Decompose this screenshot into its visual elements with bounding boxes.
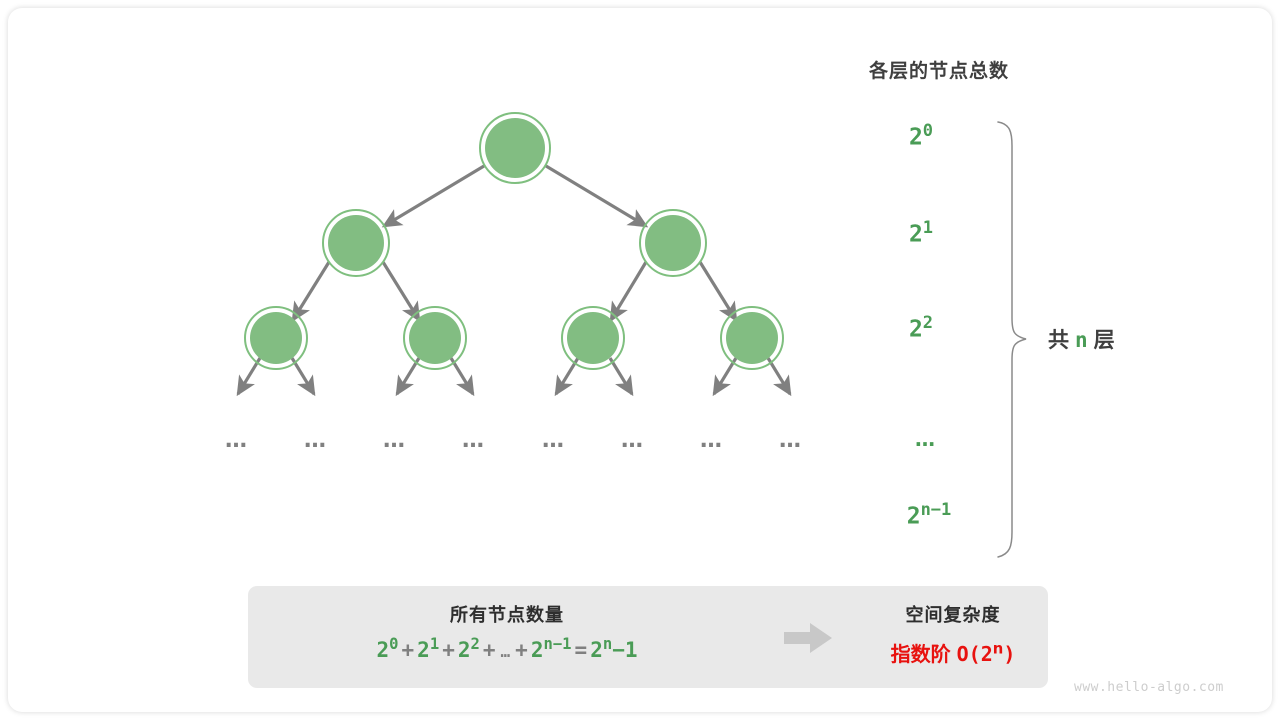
result-base: 2 bbox=[590, 638, 603, 662]
levels-variable: n bbox=[1070, 328, 1094, 352]
level-count-exp: 2 bbox=[923, 313, 933, 333]
leaf-ellipsis: … bbox=[779, 430, 803, 452]
total-nodes-formula: 20+21+22+…+2n−1=2n−1 bbox=[248, 638, 766, 662]
level-count-label-4: 2n−1 bbox=[907, 506, 952, 529]
leaf-ellipsis: … bbox=[304, 430, 328, 452]
tree-node bbox=[245, 307, 307, 369]
tree-nodes bbox=[245, 113, 783, 369]
level-count-exp: 1 bbox=[923, 218, 933, 238]
tree-node bbox=[640, 210, 706, 276]
equals-operator: = bbox=[572, 638, 591, 662]
total-nodes-heading: 所有节点数量 bbox=[248, 601, 766, 627]
leaf-ellipsis: … bbox=[621, 430, 645, 452]
diagram-canvas: 各层的节点总数 bbox=[8, 8, 1272, 712]
binary-tree-graphic bbox=[188, 98, 828, 418]
formula-ellipsis: … bbox=[499, 642, 513, 661]
complexity-order-label: 指数阶 bbox=[891, 642, 951, 666]
big-o-exponent: n bbox=[993, 640, 1004, 657]
level-count-exp: n−1 bbox=[921, 500, 952, 520]
result-exp: n bbox=[603, 635, 612, 653]
tree-node bbox=[721, 307, 783, 369]
watermark: www.hello-algo.com bbox=[1074, 680, 1224, 695]
levels-prefix: 共 bbox=[1048, 328, 1070, 352]
result-tail: −1 bbox=[612, 638, 637, 662]
level-count-base: 2 bbox=[907, 504, 921, 530]
plus-operator: + bbox=[399, 638, 418, 662]
leaf-ellipsis: … bbox=[383, 430, 407, 452]
level-count-label-1: 21 bbox=[909, 224, 933, 247]
tree-node bbox=[404, 307, 466, 369]
term-exp: 1 bbox=[430, 635, 439, 653]
level-count-base: 2 bbox=[909, 125, 923, 151]
level-count-exp: 0 bbox=[923, 121, 933, 141]
level-count-label-0: 20 bbox=[909, 127, 933, 150]
right-arrow-icon bbox=[784, 622, 834, 654]
level-count-label-2: 22 bbox=[909, 319, 933, 342]
big-o-close: ) bbox=[1003, 642, 1015, 666]
term-base: 2 bbox=[458, 638, 471, 662]
space-complexity-value: 指数阶O(2n) bbox=[858, 638, 1048, 667]
term-exp: n−1 bbox=[543, 635, 571, 653]
term-exp: 2 bbox=[471, 635, 480, 653]
tree-node bbox=[323, 210, 389, 276]
level-span-brace bbox=[996, 120, 1030, 560]
tree-node-root bbox=[480, 113, 550, 183]
term-exp: 0 bbox=[389, 635, 398, 653]
summary-left-panel: 所有节点数量 20+21+22+…+2n−1=2n−1 bbox=[248, 586, 766, 688]
plus-operator: + bbox=[480, 638, 499, 662]
column-title: 各层的节点总数 bbox=[844, 56, 1034, 83]
level-count-ellipsis: … bbox=[915, 429, 937, 449]
level-count-base: 2 bbox=[909, 317, 923, 343]
plus-operator: + bbox=[439, 638, 458, 662]
plus-operator: + bbox=[512, 638, 531, 662]
level-count-base: 2 bbox=[909, 222, 923, 248]
leaf-ellipsis: … bbox=[700, 430, 724, 452]
term-base: 2 bbox=[377, 638, 390, 662]
summary-right-panel: 空间复杂度 指数阶O(2n) bbox=[858, 586, 1048, 688]
big-o-notation: O(2 bbox=[951, 642, 993, 666]
summary-box: 所有节点数量 20+21+22+…+2n−1=2n−1 空间复杂度 指数阶O(2… bbox=[248, 586, 1048, 688]
leaf-ellipsis: … bbox=[225, 430, 249, 452]
tree-edges bbox=[238, 166, 790, 394]
levels-suffix: 层 bbox=[1094, 328, 1116, 352]
total-levels-label: 共n层 bbox=[1048, 324, 1116, 354]
term-base: 2 bbox=[531, 638, 544, 662]
tree-node bbox=[562, 307, 624, 369]
space-complexity-heading: 空间复杂度 bbox=[858, 601, 1048, 627]
leaf-ellipsis: … bbox=[542, 430, 566, 452]
term-base: 2 bbox=[417, 638, 430, 662]
leaf-ellipsis: … bbox=[462, 430, 486, 452]
